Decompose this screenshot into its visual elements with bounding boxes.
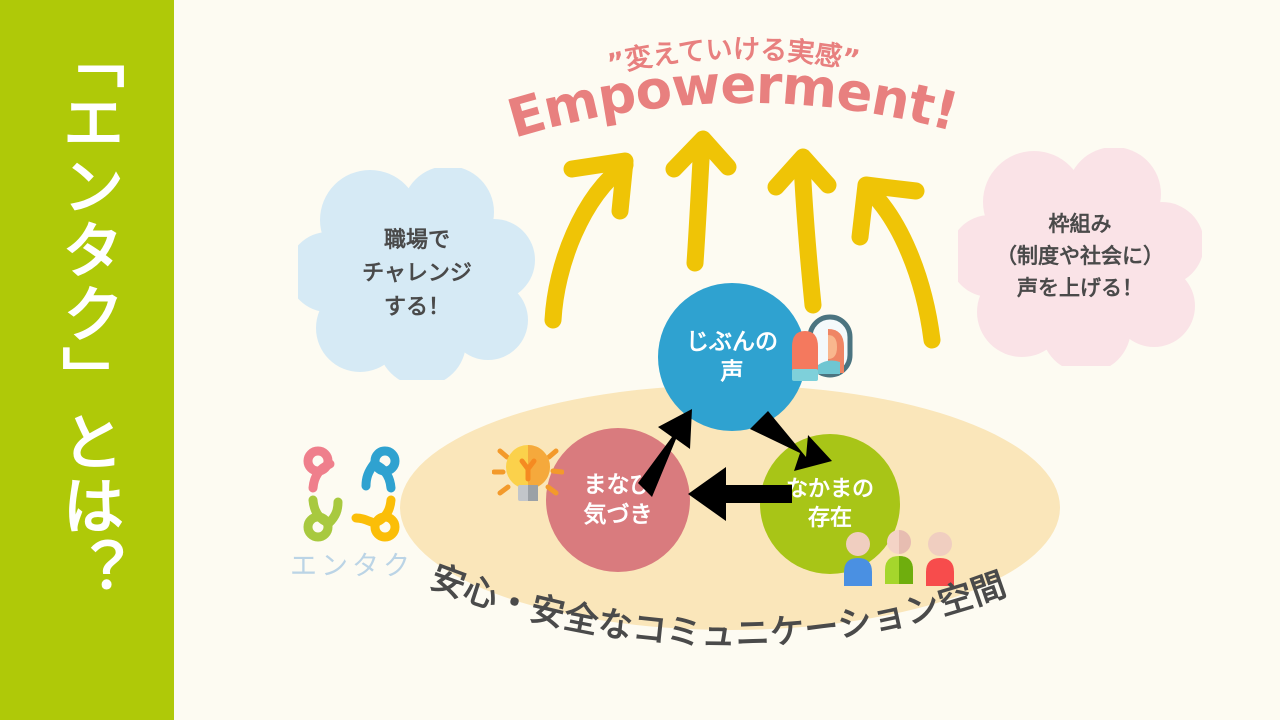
arrow-up-outer-left — [553, 161, 625, 320]
lightbulb-icon — [492, 427, 564, 515]
slide-canvas: 「エンタク」とは？ ”変えていける実感” Empowerment! — [0, 0, 1280, 720]
cloud-workplace-challenge-text: 職場で チャレンジ する！ — [362, 224, 472, 324]
logo-figure-pink — [308, 451, 330, 488]
page-title: 「エンタク」とは？ — [0, 0, 174, 720]
cycle-arrow-voice-to-peers — [750, 411, 832, 471]
logo-figure-green — [308, 500, 338, 537]
cycle-arrow-peers-to-learn — [688, 467, 792, 521]
safe-space-caption: 安心・安全なコミュニケーション空間 — [370, 565, 1070, 690]
arrow-up-inner-right — [776, 157, 828, 305]
cloud-framework-voice-text: 枠組み （制度や社会に） 声を上げる！ — [996, 209, 1164, 305]
mirror-icon — [788, 303, 854, 395]
safe-space-caption-text: 安心・安全なコミュニケーション空間 — [425, 557, 1012, 654]
entaku-logo-mark — [290, 442, 414, 546]
lightbulb-base-right — [528, 485, 538, 501]
cycle-arrow-learn-to-voice — [638, 409, 692, 497]
logo-figure-blue — [366, 451, 395, 488]
cloud-workplace-challenge: 職場で チャレンジ する！ — [298, 168, 536, 380]
safe-space-caption-path: 安心・安全なコミュニケーション空間 — [425, 557, 1012, 654]
sidebar-title-text: 「エンタク」とは？ — [54, 26, 121, 602]
arrow-up-outer-right — [860, 185, 932, 340]
logo-figure-yellow — [356, 500, 395, 537]
sidebar-panel: 「エンタク」とは？ — [0, 0, 174, 720]
cloud-framework-voice: 枠組み （制度や社会に） 声を上げる！ — [958, 148, 1202, 366]
arrow-up-inner-left — [674, 139, 728, 263]
